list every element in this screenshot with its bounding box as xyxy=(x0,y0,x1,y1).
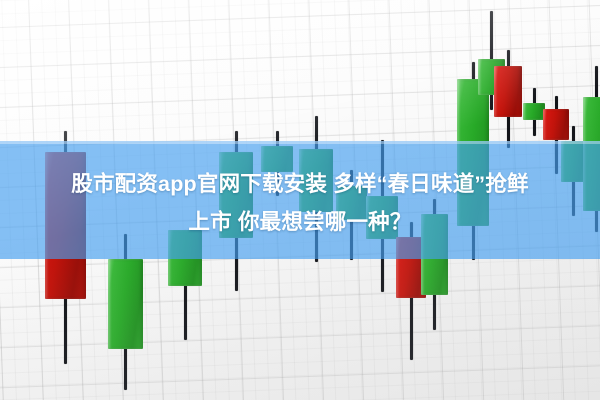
headline-line-2: 上市 你最想尝哪一种？ xyxy=(0,203,600,241)
headline-band-highlight xyxy=(0,141,600,144)
headline-line-1: 股市配资app官网下载安装 多样“春日味道”抢鲜 xyxy=(0,165,600,203)
headline-text: 股市配资app官网下载安装 多样“春日味道”抢鲜 上市 你最想尝哪一种？ xyxy=(0,165,600,241)
banner-image: 股市配资app官网下载安装 多样“春日味道”抢鲜 上市 你最想尝哪一种？ xyxy=(0,0,600,400)
